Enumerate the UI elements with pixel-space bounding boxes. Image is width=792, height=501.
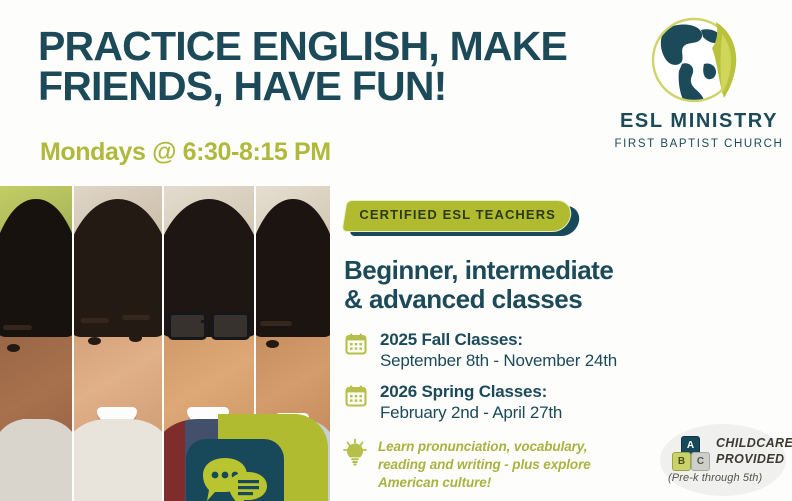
logo-subtitle: FIRST BAPTIST CHURCH xyxy=(614,138,784,150)
abc-blocks-icon: A B C xyxy=(672,436,712,470)
curriculum-tip: Learn pronunciation, vocabulary, reading… xyxy=(342,438,672,493)
childcare-badge: A B C CHILDCARE PROVIDED (Pre-k through … xyxy=(660,424,792,501)
block-c: C xyxy=(691,452,710,471)
page-title: PRACTICE ENGLISH, MAKE FRIENDS, HAVE FUN… xyxy=(38,26,618,106)
levels-line-2: & advanced classes xyxy=(344,285,744,314)
calendar-icon xyxy=(344,332,368,361)
tip-text: Learn pronunciation, vocabulary, reading… xyxy=(378,438,591,493)
headline-line-1: PRACTICE ENGLISH, MAKE xyxy=(38,23,567,69)
logo-name: ESL MINISTRY xyxy=(614,110,784,133)
esl-ministry-flyer: PRACTICE ENGLISH, MAKE FRIENDS, HAVE FUN… xyxy=(0,0,792,501)
student-portrait-1 xyxy=(0,186,72,501)
student-portrait-2 xyxy=(74,186,162,501)
certified-teachers-badge: CERTIFIED ESL TEACHERS xyxy=(344,200,579,236)
session-title-fall: 2025 Fall Classes: xyxy=(380,330,617,350)
photo-collage xyxy=(0,186,330,501)
globe-icon xyxy=(646,14,752,106)
session-text-fall: 2025 Fall Classes: September 8th - Novem… xyxy=(380,330,617,371)
badge-label: CERTIFIED ESL TEACHERS xyxy=(345,201,570,229)
tip-line-3: American culture! xyxy=(378,474,591,492)
session-range-fall: September 8th - November 24th xyxy=(380,351,617,371)
calendar-icon xyxy=(344,384,368,413)
levels-line-1: Beginner, intermediate xyxy=(344,255,613,285)
childcare-line-3: (Pre-k through 5th) xyxy=(668,472,762,484)
childcare-line-2: PROVIDED xyxy=(716,452,785,466)
lightbulb-icon xyxy=(342,438,368,471)
headline-line-2: FRIENDS, HAVE FUN! xyxy=(38,66,618,106)
session-title-spring: 2026 Spring Classes: xyxy=(380,382,562,402)
schedule-subheading: Mondays @ 6:30-8:15 PM xyxy=(40,138,331,167)
class-levels-heading: Beginner, intermediate & advanced classe… xyxy=(344,256,744,314)
session-range-spring: February 2nd - April 27th xyxy=(380,403,562,423)
session-text-spring: 2026 Spring Classes: February 2nd - Apri… xyxy=(380,382,562,423)
speech-bubbles-icon xyxy=(186,439,284,501)
childcare-line-1: CHILDCARE xyxy=(716,436,792,450)
eyeglasses xyxy=(168,312,251,334)
session-row-spring: 2026 Spring Classes: February 2nd - Apri… xyxy=(344,382,562,423)
session-row-fall: 2025 Fall Classes: September 8th - Novem… xyxy=(344,330,617,371)
block-b: B xyxy=(672,452,691,471)
esl-ministry-logo: ESL MINISTRY FIRST BAPTIST CHURCH xyxy=(614,14,784,164)
badge-body: CERTIFIED ESL TEACHERS xyxy=(341,200,573,232)
tip-line-2: reading and writing - plus explore xyxy=(378,456,591,474)
tip-line-1: Learn pronunciation, vocabulary, xyxy=(378,438,591,456)
